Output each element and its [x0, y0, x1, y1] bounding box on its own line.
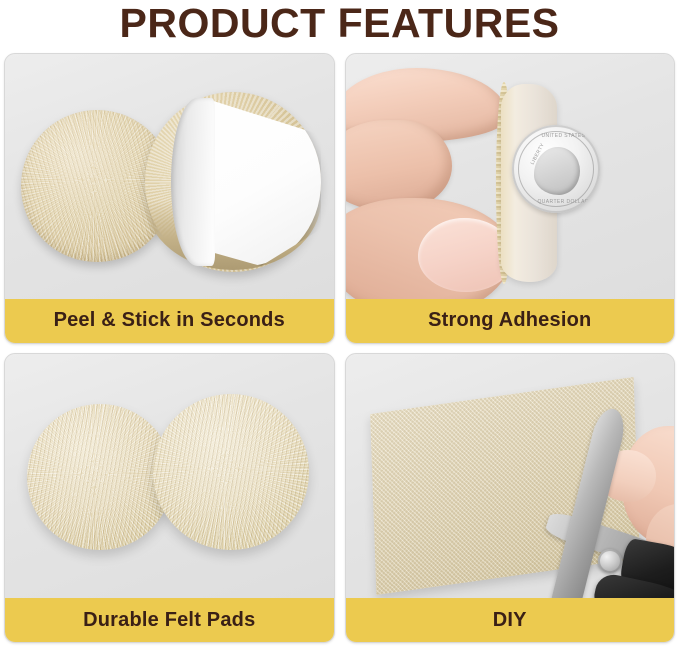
feature-photo-diy [346, 354, 675, 599]
quarter-coin-icon: UNITED STATES OF LIBERTY QUARTER DOLLAR [512, 125, 600, 213]
feature-photo-peel-and-stick [5, 54, 334, 299]
felt-pad-with-liner [145, 92, 321, 272]
feature-card-diy[interactable]: DIY [345, 353, 676, 644]
felt-pad-right-icon [153, 394, 309, 550]
feature-photo-strong-adhesion: UNITED STATES OF LIBERTY QUARTER DOLLAR [346, 54, 675, 299]
feature-photo-durable-felt-pads [5, 354, 334, 599]
felt-pad-left-icon [27, 404, 173, 550]
feature-caption-strong-adhesion: Strong Adhesion [346, 299, 675, 343]
feature-card-strong-adhesion[interactable]: UNITED STATES OF LIBERTY QUARTER DOLLAR … [345, 53, 676, 344]
page-title: PRODUCT FEATURES [0, 0, 679, 48]
feature-card-peel-and-stick[interactable]: Peel & Stick in Seconds [4, 53, 335, 344]
coin-top-legend: UNITED STATES OF [542, 133, 595, 139]
hand-icon [346, 58, 510, 299]
scissors-pivot-screw-icon [598, 549, 622, 573]
feature-card-grid: Peel & Stick in Seconds UNITED STATES OF… [4, 53, 675, 643]
feature-caption-peel-and-stick: Peel & Stick in Seconds [5, 299, 334, 343]
coin-bottom-legend: QUARTER DOLLAR [538, 199, 589, 205]
feature-caption-diy: DIY [346, 598, 675, 642]
feature-caption-durable-felt-pads: Durable Felt Pads [5, 598, 334, 642]
liner-curl-icon [171, 98, 215, 266]
product-features-infographic: PRODUCT FEATURES Peel & Stick in Seconds [0, 0, 679, 647]
feature-card-durable-felt-pads[interactable]: Durable Felt Pads [4, 353, 335, 644]
